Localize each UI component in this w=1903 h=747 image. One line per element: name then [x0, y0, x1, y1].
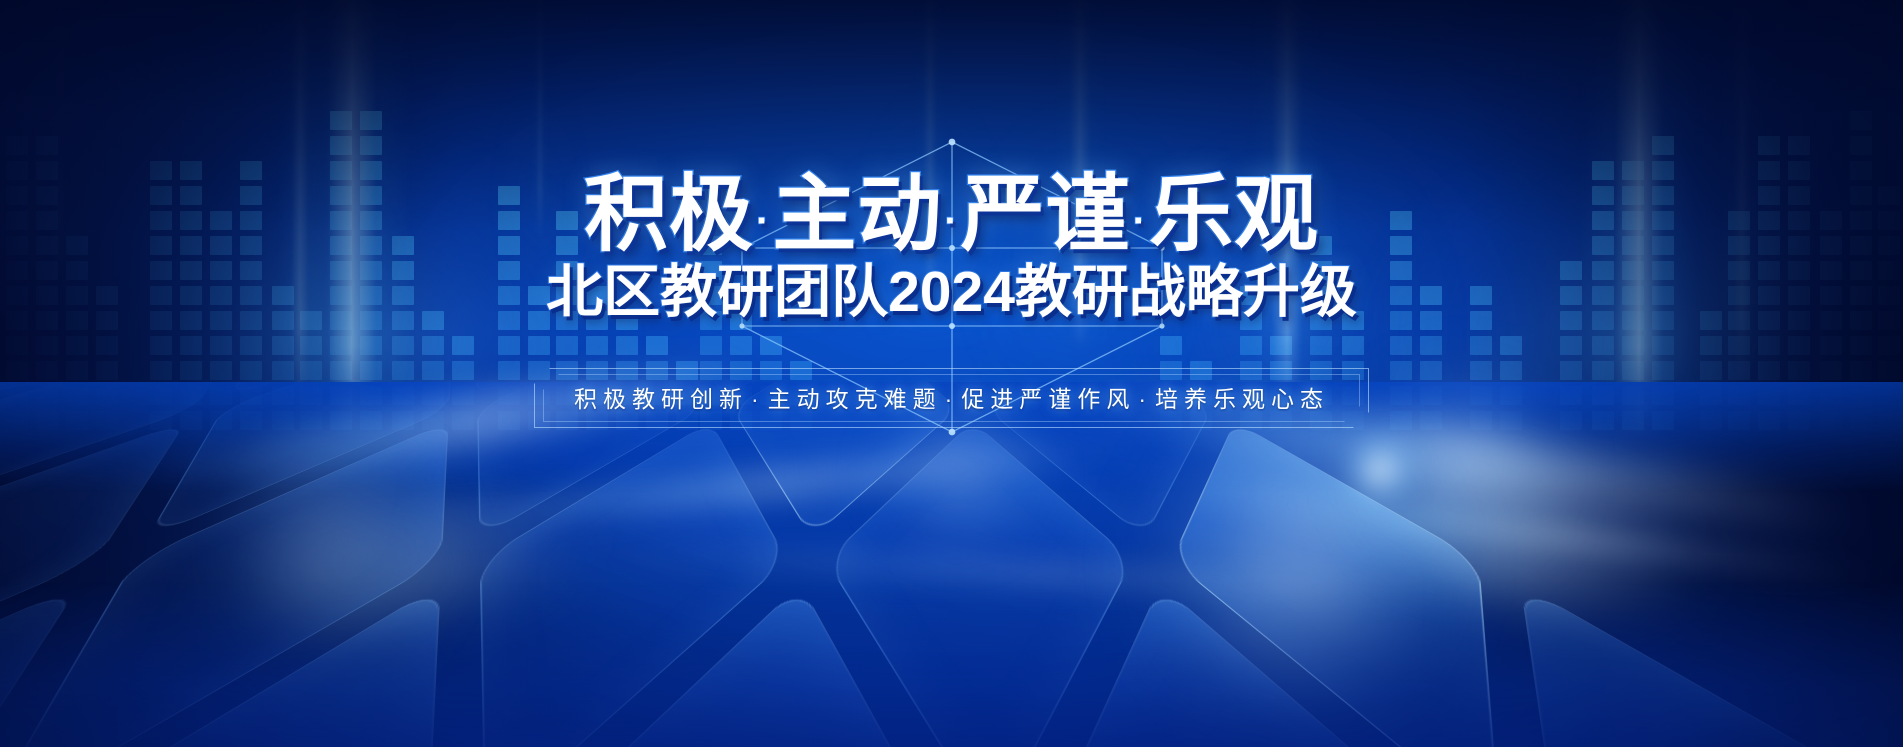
subheadline: 北区教研团队2024教研战略升级 [546, 264, 1357, 321]
tagline: 积极教研创新·主动攻克难题·促进严谨作风·培养乐观心态 [574, 380, 1329, 414]
headline-word-4: 乐观 [1149, 167, 1319, 261]
tagline-item-2: 主动攻克难题 [768, 386, 942, 412]
headline-word-2: 主动 [772, 167, 942, 261]
tagline-item-3: 促进严谨作风 [961, 386, 1135, 412]
tagline-item-4: 培养乐观心态 [1155, 386, 1329, 412]
headline-separator: · [942, 199, 960, 243]
tagline-separator: · [748, 386, 768, 412]
promo-banner: 积极·主动·严谨·乐观 北区教研团队2024教研战略升级 积极教研创新·主动攻克… [0, 0, 1903, 747]
tagline-separator: · [1135, 386, 1155, 412]
tagline-item-1: 积极教研创新 [574, 386, 748, 412]
tagline-separator: · [942, 386, 962, 412]
headline-word-3: 严谨 [961, 167, 1131, 261]
headline-word-1: 积极 [584, 167, 754, 261]
headline-separator: · [754, 199, 772, 243]
banner-content: 积极·主动·严谨·乐观 北区教研团队2024教研战略升级 积极教研创新·主动攻克… [0, 0, 1903, 747]
headline-separator: · [1131, 199, 1149, 243]
tagline-frame-box: 积极教研创新·主动攻克难题·促进严谨作风·培养乐观心态 [534, 368, 1369, 428]
headline: 积极·主动·严谨·乐观 [584, 172, 1319, 256]
